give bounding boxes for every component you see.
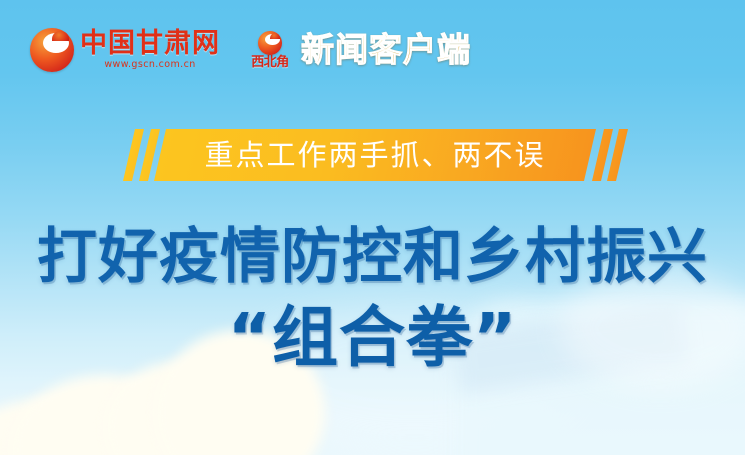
gansu-net-url: www.gscn.com.cn: [80, 59, 220, 71]
page-title: 打好疫情防控和乡村振兴 “组合拳”: [0, 222, 745, 376]
logo-bar: 中国甘肃网 www.gscn.com.cn 西北角 新闻客户端: [30, 24, 471, 76]
gansu-net-logo[interactable]: 中国甘肃网 www.gscn.com.cn: [30, 28, 220, 72]
banner-text: 重点工作两手抓、两不误: [160, 129, 590, 181]
headline-line-2: “组合拳”: [0, 300, 745, 376]
cloud-shape-a: [0, 398, 170, 455]
news-client-logo[interactable]: 西北角 新闻客户端: [248, 31, 471, 70]
xibeijiao-label: 西北角: [251, 56, 289, 70]
xibeijiao-swoosh-icon: [258, 31, 282, 55]
xibeijiao-stamp: 西北角: [248, 31, 292, 70]
gansu-net-swoosh-icon: [30, 28, 74, 72]
headline-line-1: 打好疫情防控和乡村振兴: [0, 222, 745, 292]
cloud-shape-b: [10, 375, 200, 455]
gansu-net-name: 中国甘肃网: [80, 29, 220, 59]
poster-canvas: 中国甘肃网 www.gscn.com.cn 西北角 新闻客户端 重点工作两手抓、…: [0, 0, 745, 455]
cloud-shape-e: [0, 420, 270, 455]
news-client-title: 新闻客户端: [301, 32, 471, 68]
gansu-net-wordmark: 中国甘肃网 www.gscn.com.cn: [80, 29, 220, 71]
banner: 重点工作两手抓、两不误: [0, 129, 745, 181]
